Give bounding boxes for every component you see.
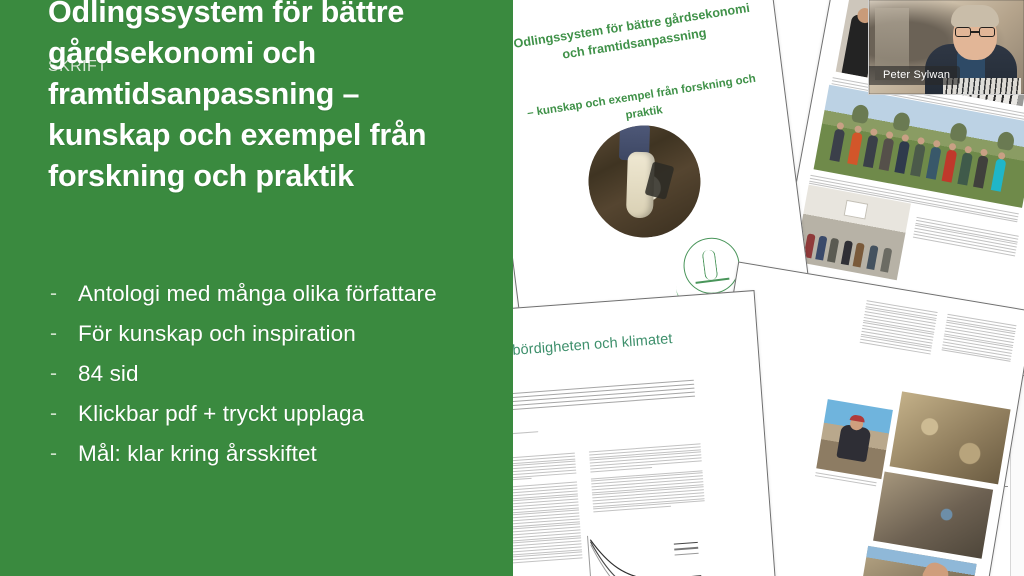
article-heading: Marken, bördigheten och klimatet — [513, 328, 686, 365]
list-item: - Mål: klar kring årsskiftet — [46, 438, 496, 469]
eyeglasses-icon — [955, 27, 995, 37]
bullet-marker-icon: - — [46, 438, 78, 469]
body-text-block — [941, 314, 1017, 364]
photo-person-in-field — [816, 399, 893, 479]
list-item-label: För kunskap och inspiration — [78, 318, 356, 349]
article-column-right — [589, 443, 705, 514]
participant-video-tile[interactable]: Peter Sylwan — [868, 0, 1024, 95]
bullet-marker-icon: - — [46, 318, 78, 349]
list-item: - För kunskap och inspiration — [46, 318, 496, 349]
list-item: - Klickbar pdf + tryckt upplaga — [46, 398, 496, 429]
chart-legend — [664, 538, 699, 561]
list-item-label: Mål: klar kring årsskiftet — [78, 438, 317, 469]
participant-name-label: Peter Sylwan — [869, 66, 960, 85]
article-lead-text — [513, 380, 695, 417]
bullet-marker-icon: - — [46, 398, 78, 429]
poster — [844, 200, 869, 220]
hand-shape — [921, 559, 952, 576]
cover-title: Odlingssystem för bättre gårdsekonomi oc… — [513, 0, 759, 71]
photo-soil-surface — [873, 472, 993, 559]
bullet-marker-icon: - — [46, 278, 78, 309]
page-sheet-article: Marken, bördigheten och klimatet — [513, 290, 779, 576]
list-item: - 84 sid — [46, 358, 496, 389]
article-column-left — [513, 453, 583, 569]
participant-hair — [951, 5, 999, 27]
caption-text-block — [913, 217, 1019, 258]
list-item-label: Antologi med många olika författare — [78, 278, 437, 309]
article-line-chart — [587, 528, 705, 576]
photo-soil-clods — [890, 391, 1011, 484]
list-item-label: Klickbar pdf + tryckt upplaga — [78, 398, 364, 429]
cover-photo-boot-in-soil — [582, 119, 707, 244]
page-title: Odlingssystem för bättre gårdsekonomi oc… — [48, 0, 478, 197]
list-item-label: 84 sid — [78, 358, 139, 389]
slide-bullet-list: - Antologi med många olika författare - … — [46, 278, 496, 478]
presentation-slide: SKRIFT Odlingssystem för bättre gårdseko… — [0, 0, 513, 576]
screen-share-stage: SKRIFT Odlingssystem för bättre gårdseko… — [0, 0, 1024, 576]
list-item: - Antologi med många olika författare — [46, 278, 496, 309]
bullet-marker-icon: - — [46, 358, 78, 389]
article-byline — [513, 429, 571, 440]
body-text-block — [859, 300, 937, 356]
